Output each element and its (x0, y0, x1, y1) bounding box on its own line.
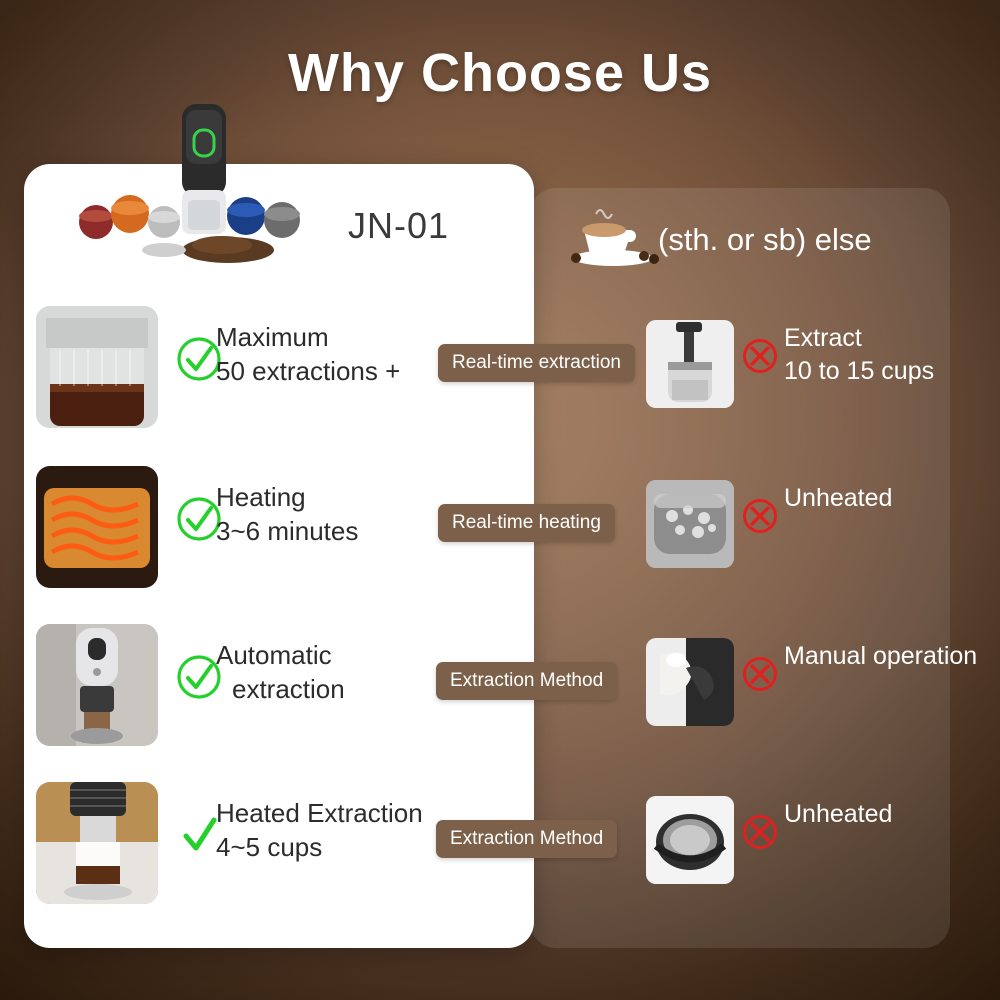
cross-mark-icon (742, 656, 778, 692)
feature-line-2: 4~5 cups (216, 830, 456, 864)
competitor-text-right: Manual operation (784, 640, 999, 673)
comparison-row: Automatic extraction Extraction Method M… (0, 618, 1000, 748)
cross-mark-icon (742, 498, 778, 534)
feature-thumbnail-right (646, 320, 734, 408)
competitor-text-right: Unheated (784, 482, 999, 515)
competitor-line-2: 10 to 15 cups (784, 355, 999, 388)
feature-thumbnail-right (646, 796, 734, 884)
competitor-text-right: Unheated (784, 798, 999, 831)
feature-line-1: Heating (216, 480, 446, 514)
competitor-line-1: Manual operation (784, 640, 999, 673)
page-title: Why Choose Us (0, 42, 1000, 104)
competitor-line-1: Extract (784, 322, 999, 355)
comparison-criteria-pill: Extraction Method (436, 820, 617, 858)
comparison-row: Heated Extraction 4~5 cups Extraction Me… (0, 776, 1000, 906)
competitor-line-1: Unheated (784, 798, 999, 831)
feature-line-1: Maximum (216, 320, 446, 354)
feature-thumbnail-left (36, 624, 158, 746)
comparison-row: Maximum 50 extractions + Real-time extra… (0, 300, 1000, 430)
competitor-label: (sth. or sb) else (658, 222, 872, 258)
competitor-line-1: Unheated (784, 482, 999, 515)
feature-thumbnail-left (36, 306, 158, 428)
feature-thumbnail-right (646, 480, 734, 568)
comparison-criteria-pill: Real-time extraction (438, 344, 635, 382)
comparison-row: Heating 3~6 minutes Real-time heating Un… (0, 460, 1000, 590)
cross-mark-icon (742, 338, 778, 374)
feature-text-left: Maximum 50 extractions + (216, 320, 446, 388)
feature-line-2: 3~6 minutes (216, 514, 446, 548)
product-model-name: JN-01 (348, 205, 449, 247)
feature-text-left: Heated Extraction 4~5 cups (216, 796, 456, 864)
feature-text-left: Heating 3~6 minutes (216, 480, 446, 548)
cross-mark-icon (742, 814, 778, 850)
comparison-criteria-pill: Real-time heating (438, 504, 615, 542)
feature-line-2: 50 extractions + (216, 354, 446, 388)
feature-line-1: Heated Extraction (216, 796, 456, 830)
feature-line-1: Automatic (216, 638, 446, 672)
feature-text-left: Automatic extraction (216, 638, 446, 706)
feature-thumbnail-left (36, 466, 158, 588)
competitor-image (558, 196, 668, 272)
comparison-criteria-pill: Extraction Method (436, 662, 617, 700)
competitor-text-right: Extract 10 to 15 cups (784, 322, 999, 388)
product-image (60, 104, 360, 264)
feature-thumbnail-right (646, 638, 734, 726)
feature-thumbnail-left (36, 782, 158, 904)
feature-line-2: extraction (216, 672, 446, 706)
